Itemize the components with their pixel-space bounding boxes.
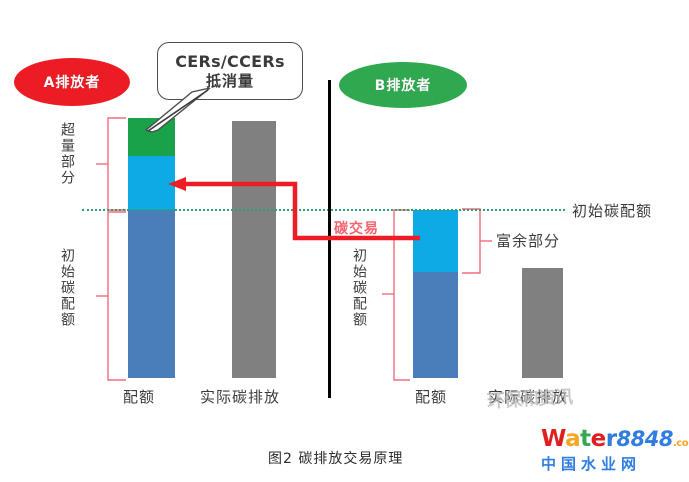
category-a-actual: 实际碳排放 [200, 386, 280, 407]
figure-caption: 图2 碳排放交易原理 [268, 448, 403, 468]
bar-b-quota-initial-segment [413, 272, 458, 378]
callout-line-1: CERs/CCERs [175, 52, 285, 72]
logo-letter-t: t [580, 426, 591, 452]
carbon-trade-flow-arrow [110, 160, 470, 270]
emitter-a-badge: A排放者 [14, 58, 130, 106]
logo-letter-r: r [606, 426, 617, 452]
site-logo-watermark: Water8848.com 中国水业网 [541, 428, 681, 474]
logo-wordmark: Water8848.com [541, 428, 681, 451]
logo-letter-w: W [541, 426, 565, 452]
logo-letter-a: a [565, 426, 580, 452]
label-initial-allocation-line: 初始碳配额 [572, 200, 652, 221]
logo-tld: .com [673, 438, 689, 449]
logo-letter-e: e [591, 426, 606, 452]
emitter-b-badge: B排放者 [339, 62, 467, 108]
label-a-initial-quota: 初始碳配额 [60, 248, 74, 328]
emitter-a-label: A排放者 [44, 72, 101, 92]
emitter-b-label: B排放者 [375, 75, 432, 95]
label-a-excess-part: 超量部分 [60, 122, 74, 186]
category-b-quota: 配额 [415, 386, 447, 407]
figure-canvas: A排放者 B排放者 CERs/CCERs 抵消量 [0, 0, 689, 482]
logo-chinese-name: 中国水业网 [541, 453, 681, 474]
logo-digits: 8848 [617, 427, 673, 451]
label-b-surplus-part: 富余部分 [496, 230, 560, 251]
overlay-watermark-text: 环保和资讯 [486, 383, 572, 413]
category-a-quota: 配额 [123, 386, 155, 407]
bar-b-actual-emission [522, 268, 563, 378]
callout-pointer-icon [130, 88, 240, 140]
